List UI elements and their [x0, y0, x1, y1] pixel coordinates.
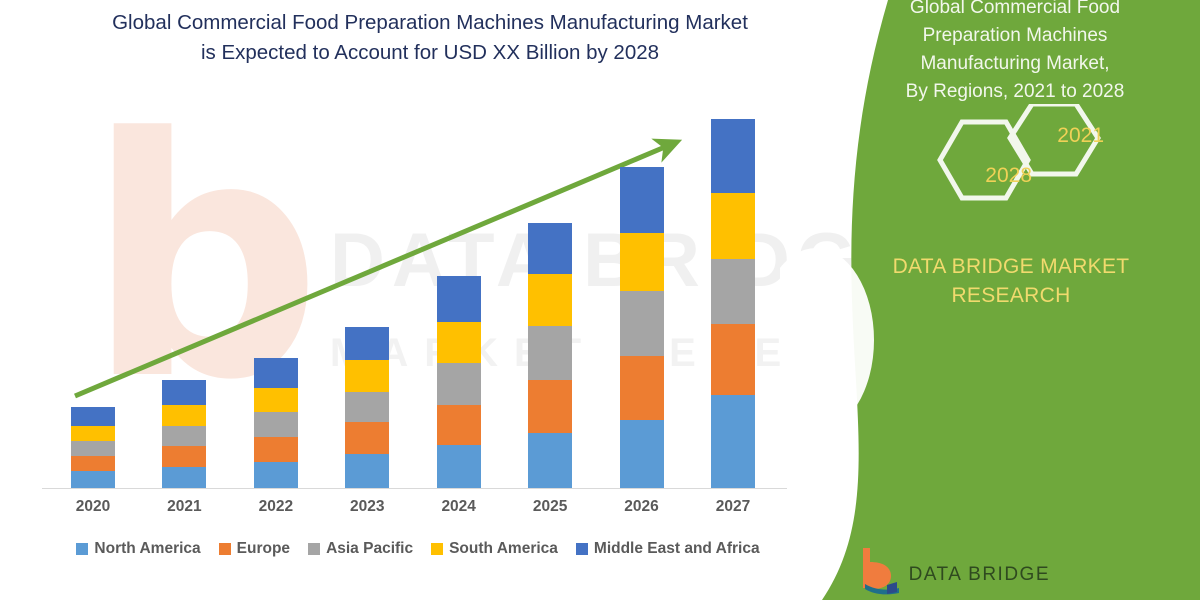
- stacked-bar[interactable]: [254, 358, 298, 488]
- bar-group: [48, 110, 778, 488]
- bar-segment[interactable]: [620, 167, 664, 233]
- stacked-bar[interactable]: [437, 276, 481, 488]
- bar-column: [414, 110, 504, 488]
- bar-segment[interactable]: [345, 392, 389, 422]
- bar-column: [231, 110, 321, 488]
- legend-label: North America: [94, 540, 200, 558]
- x-axis-tick-label: 2027: [688, 498, 778, 516]
- bar-segment[interactable]: [711, 193, 755, 259]
- bar-segment[interactable]: [437, 276, 481, 321]
- bar-segment[interactable]: [345, 360, 389, 392]
- panel-heading: Global Commercial Food Preparation Machi…: [840, 0, 1190, 106]
- legend-swatch-icon: [431, 543, 443, 555]
- bar-segment[interactable]: [528, 326, 572, 381]
- bar-segment[interactable]: [254, 437, 298, 462]
- legend-swatch-icon: [76, 543, 88, 555]
- bar-segment[interactable]: [162, 380, 206, 405]
- bar-segment[interactable]: [437, 363, 481, 405]
- panel-heading-line-0: Global Commercial Food: [840, 0, 1190, 22]
- bar-segment[interactable]: [620, 291, 664, 355]
- bar-segment[interactable]: [254, 358, 298, 388]
- x-axis-line: [42, 488, 787, 489]
- page-title: Global Commercial Food Preparation Machi…: [35, 8, 825, 68]
- page-title-line-1: Global Commercial Food Preparation Machi…: [112, 11, 748, 34]
- stacked-bar[interactable]: [620, 167, 664, 488]
- bar-segment[interactable]: [71, 407, 115, 426]
- bar-segment[interactable]: [162, 446, 206, 467]
- x-axis-tick-label: 2020: [48, 498, 138, 516]
- bar-segment[interactable]: [437, 405, 481, 445]
- legend-label: Europe: [237, 540, 290, 558]
- panel-heading-line-3: By Regions, 2021 to 2028: [840, 78, 1190, 106]
- bar-segment[interactable]: [162, 426, 206, 447]
- stacked-bar[interactable]: [528, 223, 572, 488]
- bar-column: [505, 110, 595, 488]
- hexagon-label-2021: 2021: [1057, 124, 1104, 148]
- legend-swatch-icon: [576, 543, 588, 555]
- stacked-bar[interactable]: [711, 119, 755, 488]
- x-axis-tick-label: 2023: [322, 498, 412, 516]
- bar-segment[interactable]: [528, 274, 572, 325]
- bar-segment[interactable]: [162, 405, 206, 426]
- bar-column: [322, 110, 412, 488]
- hexagon-badges: [922, 104, 1122, 216]
- x-axis-tick-label: 2021: [139, 498, 229, 516]
- bar-segment[interactable]: [437, 322, 481, 364]
- legend-item[interactable]: Europe: [219, 540, 290, 558]
- chart-legend: North AmericaEuropeAsia PacificSouth Ame…: [48, 540, 788, 558]
- stacked-bar[interactable]: [162, 380, 206, 488]
- x-axis-tick-label: 2024: [414, 498, 504, 516]
- infographic-root: b DATA BRIDGE MARKET RESEARCH Global Com…: [0, 0, 1200, 600]
- bar-segment[interactable]: [254, 388, 298, 413]
- bar-segment[interactable]: [71, 441, 115, 456]
- bar-segment[interactable]: [711, 119, 755, 193]
- bar-segment[interactable]: [162, 467, 206, 488]
- bar-column: [688, 110, 778, 488]
- bar-column: [48, 110, 138, 488]
- bar-segment[interactable]: [71, 426, 115, 441]
- panel-brand-line-2: RESEARCH: [846, 281, 1176, 310]
- x-axis-labels: 20202021202220232024202520262027: [48, 498, 778, 516]
- bar-segment[interactable]: [711, 395, 755, 488]
- x-axis-tick-label: 2022: [231, 498, 321, 516]
- x-axis-tick-label: 2026: [597, 498, 687, 516]
- legend-item[interactable]: South America: [431, 540, 558, 558]
- bar-column: [597, 110, 687, 488]
- bar-segment[interactable]: [528, 433, 572, 488]
- bar-segment[interactable]: [254, 462, 298, 488]
- bar-segment[interactable]: [620, 420, 664, 488]
- page-title-line-2: is Expected to Account for USD XX Billio…: [201, 41, 659, 64]
- bar-column: [139, 110, 229, 488]
- chart-area: 20202021202220232024202520262027: [0, 0, 840, 600]
- bar-segment[interactable]: [711, 259, 755, 323]
- bar-segment[interactable]: [528, 380, 572, 433]
- stacked-bar[interactable]: [345, 327, 389, 488]
- footer-logo: DATA BRIDGE: [857, 544, 1050, 596]
- bar-segment[interactable]: [437, 445, 481, 488]
- bar-segment[interactable]: [345, 454, 389, 488]
- bar-segment[interactable]: [528, 223, 572, 274]
- legend-item[interactable]: Asia Pacific: [308, 540, 413, 558]
- bar-segment[interactable]: [71, 456, 115, 471]
- bar-segment[interactable]: [71, 471, 115, 488]
- legend-swatch-icon: [308, 543, 320, 555]
- x-axis-tick-label: 2025: [505, 498, 595, 516]
- panel-heading-line-1: Preparation Machines: [840, 22, 1190, 50]
- bar-segment[interactable]: [345, 422, 389, 454]
- hexagon-label-2028: 2028: [985, 164, 1032, 188]
- bar-segment[interactable]: [345, 327, 389, 359]
- bar-segment[interactable]: [620, 356, 664, 420]
- data-bridge-logo-icon: [857, 544, 901, 596]
- bar-segment[interactable]: [254, 412, 298, 437]
- legend-label: South America: [449, 540, 558, 558]
- legend-label: Middle East and Africa: [594, 540, 760, 558]
- panel-brand-text: DATA BRIDGE MARKET RESEARCH: [846, 252, 1176, 310]
- footer-logo-text: DATA BRIDGE: [909, 564, 1050, 596]
- bar-segment[interactable]: [711, 324, 755, 396]
- legend-swatch-icon: [219, 543, 231, 555]
- panel-heading-line-2: Manufacturing Market,: [840, 50, 1190, 78]
- legend-item[interactable]: North America: [76, 540, 200, 558]
- panel-brand-line-1: DATA BRIDGE MARKET: [846, 252, 1176, 281]
- legend-label: Asia Pacific: [326, 540, 413, 558]
- stacked-bar[interactable]: [71, 407, 115, 488]
- legend-item[interactable]: Middle East and Africa: [576, 540, 760, 558]
- bar-segment[interactable]: [620, 233, 664, 292]
